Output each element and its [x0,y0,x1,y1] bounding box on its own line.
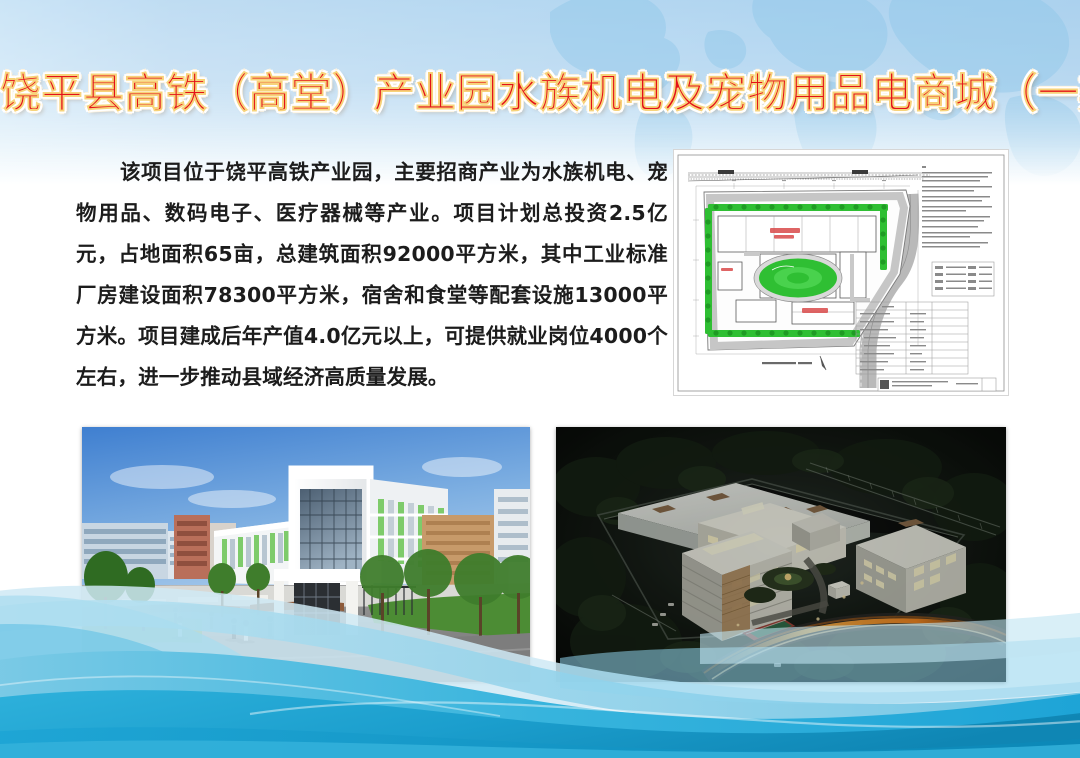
page-title: 饶平县高铁（高堂）产业园水族机电及宠物用品电商城（一期）建设项目简介 [0,66,1080,120]
project-introduction-poster: 饶平县高铁（高堂）产业园水族机电及宠物用品电商城（一期）建设项目简介 该项目位于… [0,0,1080,758]
rendering-aerial-night-view [556,427,1006,682]
project-description-paragraph: 该项目位于饶平高铁产业园，主要招商产业为水族机电、宠物用品、数码电子、医疗器械等… [76,152,668,398]
rendering-street-view [82,427,530,682]
poster-title-container: 饶平县高铁（高堂）产业园水族机电及宠物用品电商城（一期）建设项目简介 [0,66,1080,120]
site-plan-drawing [674,150,1008,395]
